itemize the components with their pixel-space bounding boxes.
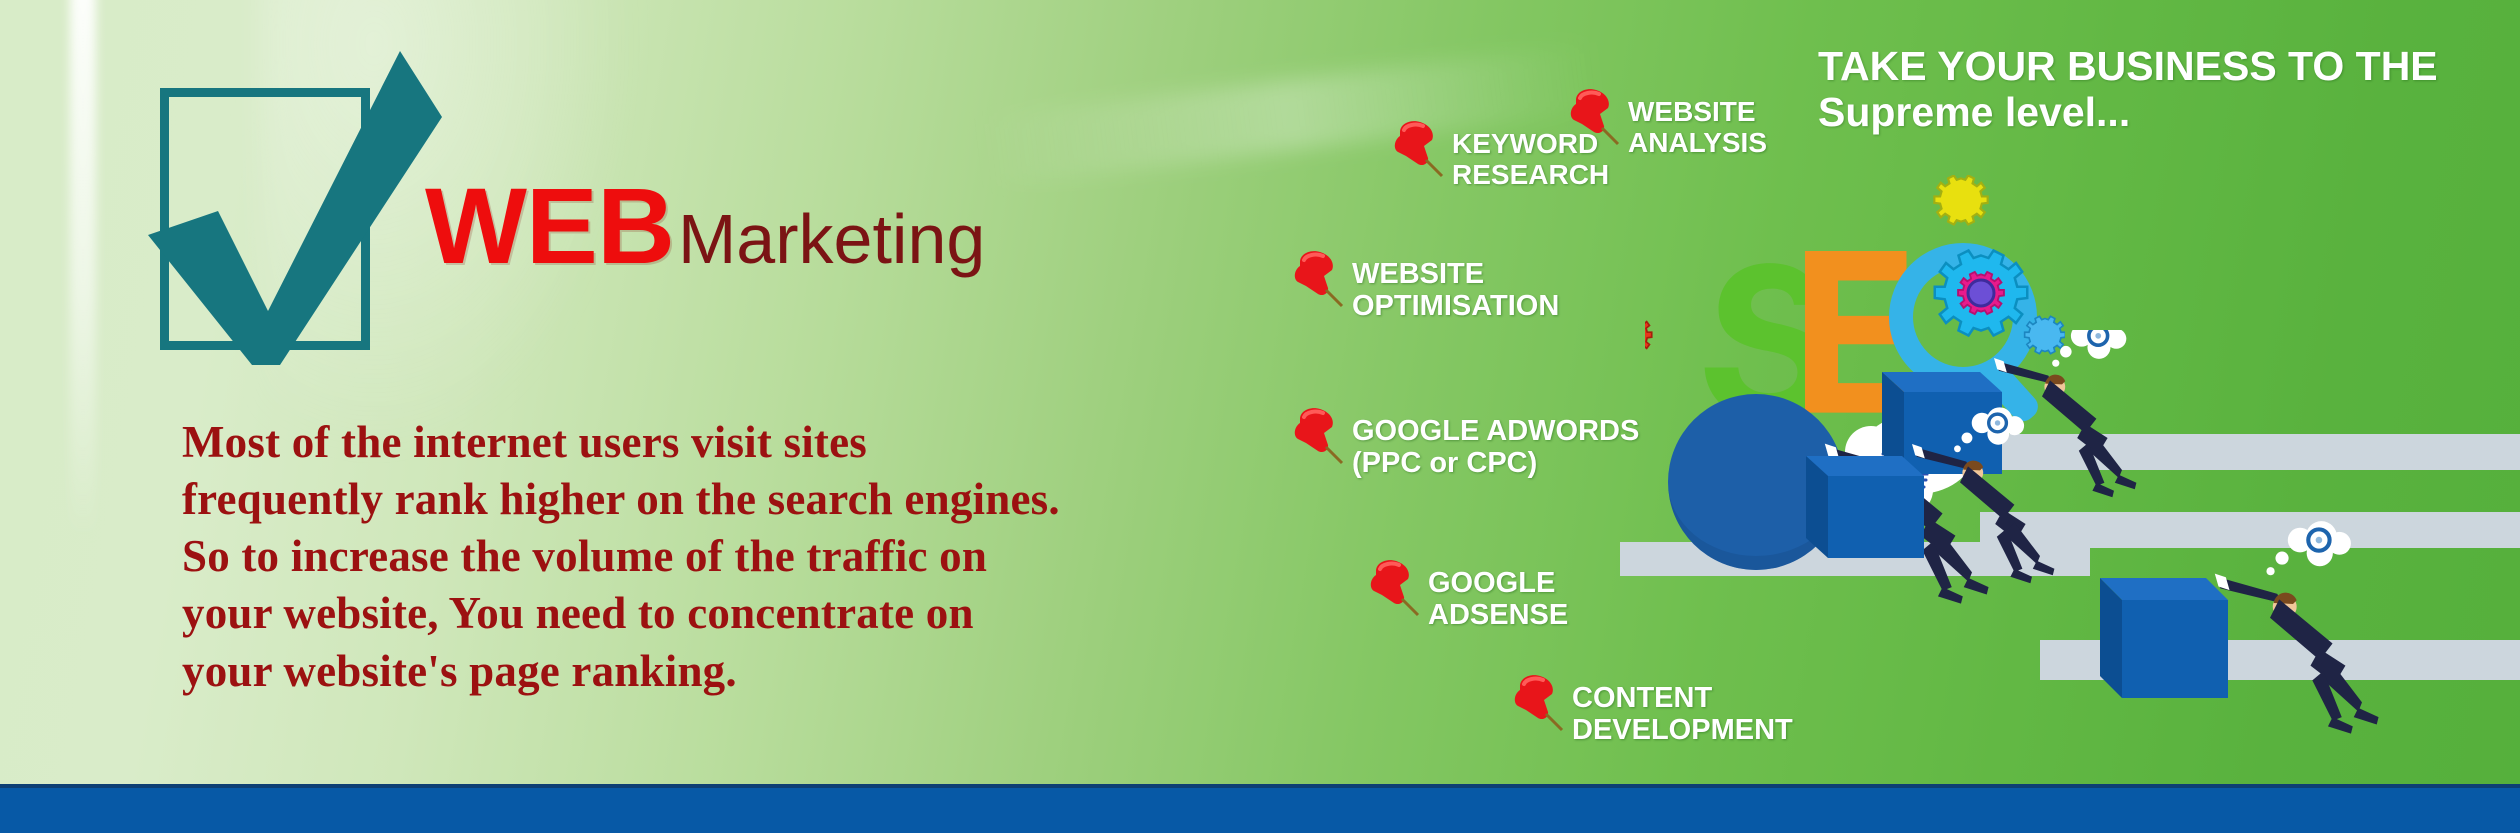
blue-cube-middle — [1806, 456, 1924, 558]
service-label-google-adsense[interactable]: GOOGLE ADSENSE — [1428, 567, 1568, 632]
pushpin-icon — [1510, 670, 1576, 736]
label-line-2: ANALYSIS — [1628, 127, 1767, 158]
service-label-website-analysis[interactable]: WEBSITE ANALYSIS — [1628, 96, 1767, 159]
tagline-line-2: Supreme level... — [1818, 90, 2498, 136]
pushpin-icon — [1290, 403, 1356, 469]
label-line-2: OPTIMISATION — [1352, 290, 1559, 322]
checkbox-checked-icon — [160, 88, 370, 350]
label-line-2: DEVELOPMENT — [1572, 714, 1793, 746]
paragraph-line-3: So to increase the volume of the traffic… — [182, 528, 1232, 585]
pushpin-icon — [1566, 84, 1632, 150]
pushpin-icon — [1290, 246, 1356, 312]
label-line-1: WEBSITE — [1628, 96, 1767, 127]
path-upper — [2000, 434, 2520, 470]
gear-idea-icon-upper — [2052, 330, 2126, 367]
blue-cube-lower — [2100, 578, 2228, 698]
service-label-content-development[interactable]: CONTENT DEVELOPMENT — [1572, 682, 1793, 747]
paragraph-line-2: frequently rank higher on the search eng… — [182, 471, 1232, 528]
title-web: WEB — [425, 172, 674, 280]
intro-paragraph: Most of the internet users visit sites f… — [182, 414, 1232, 700]
paragraph-line-1: Most of the internet users visit sites — [182, 414, 1232, 471]
pushpin-icon — [1390, 116, 1456, 182]
web-marketing-banner: WEB Marketing Most of the internet users… — [0, 0, 2520, 833]
label-line-2: RESEARCH — [1452, 159, 1609, 190]
light-streak-decoration — [70, 0, 96, 540]
tagline: TAKE YOUR BUSINESS TO THE Supreme level.… — [1818, 44, 2498, 136]
label-line-1: GOOGLE ADWORDS — [1352, 415, 1639, 447]
tagline-line-1: TAKE YOUR BUSINESS TO THE — [1818, 43, 2438, 89]
service-label-google-adwords[interactable]: GOOGLE ADWORDS (PPC or CPC) — [1352, 415, 1639, 480]
page-title: WEB Marketing — [425, 172, 985, 280]
paragraph-line-5: your website's page ranking. — [182, 643, 1232, 700]
label-line-1: GOOGLE — [1428, 567, 1568, 599]
checkmark-glyph — [140, 43, 450, 373]
title-marketing: Marketing — [678, 204, 985, 274]
label-line-2: (PPC or CPC) — [1352, 447, 1639, 479]
pushpin-icon — [1366, 555, 1432, 621]
label-line-1: WEBSITE — [1352, 258, 1559, 290]
paragraph-line-4: your website, You need to concentrate on — [182, 585, 1232, 642]
label-line-2: ADSENSE — [1428, 599, 1568, 631]
label-line-1: CONTENT — [1572, 682, 1793, 714]
bottom-bar — [0, 788, 2520, 833]
service-label-website-optimisation[interactable]: WEBSITE OPTIMISATION — [1352, 258, 1559, 323]
